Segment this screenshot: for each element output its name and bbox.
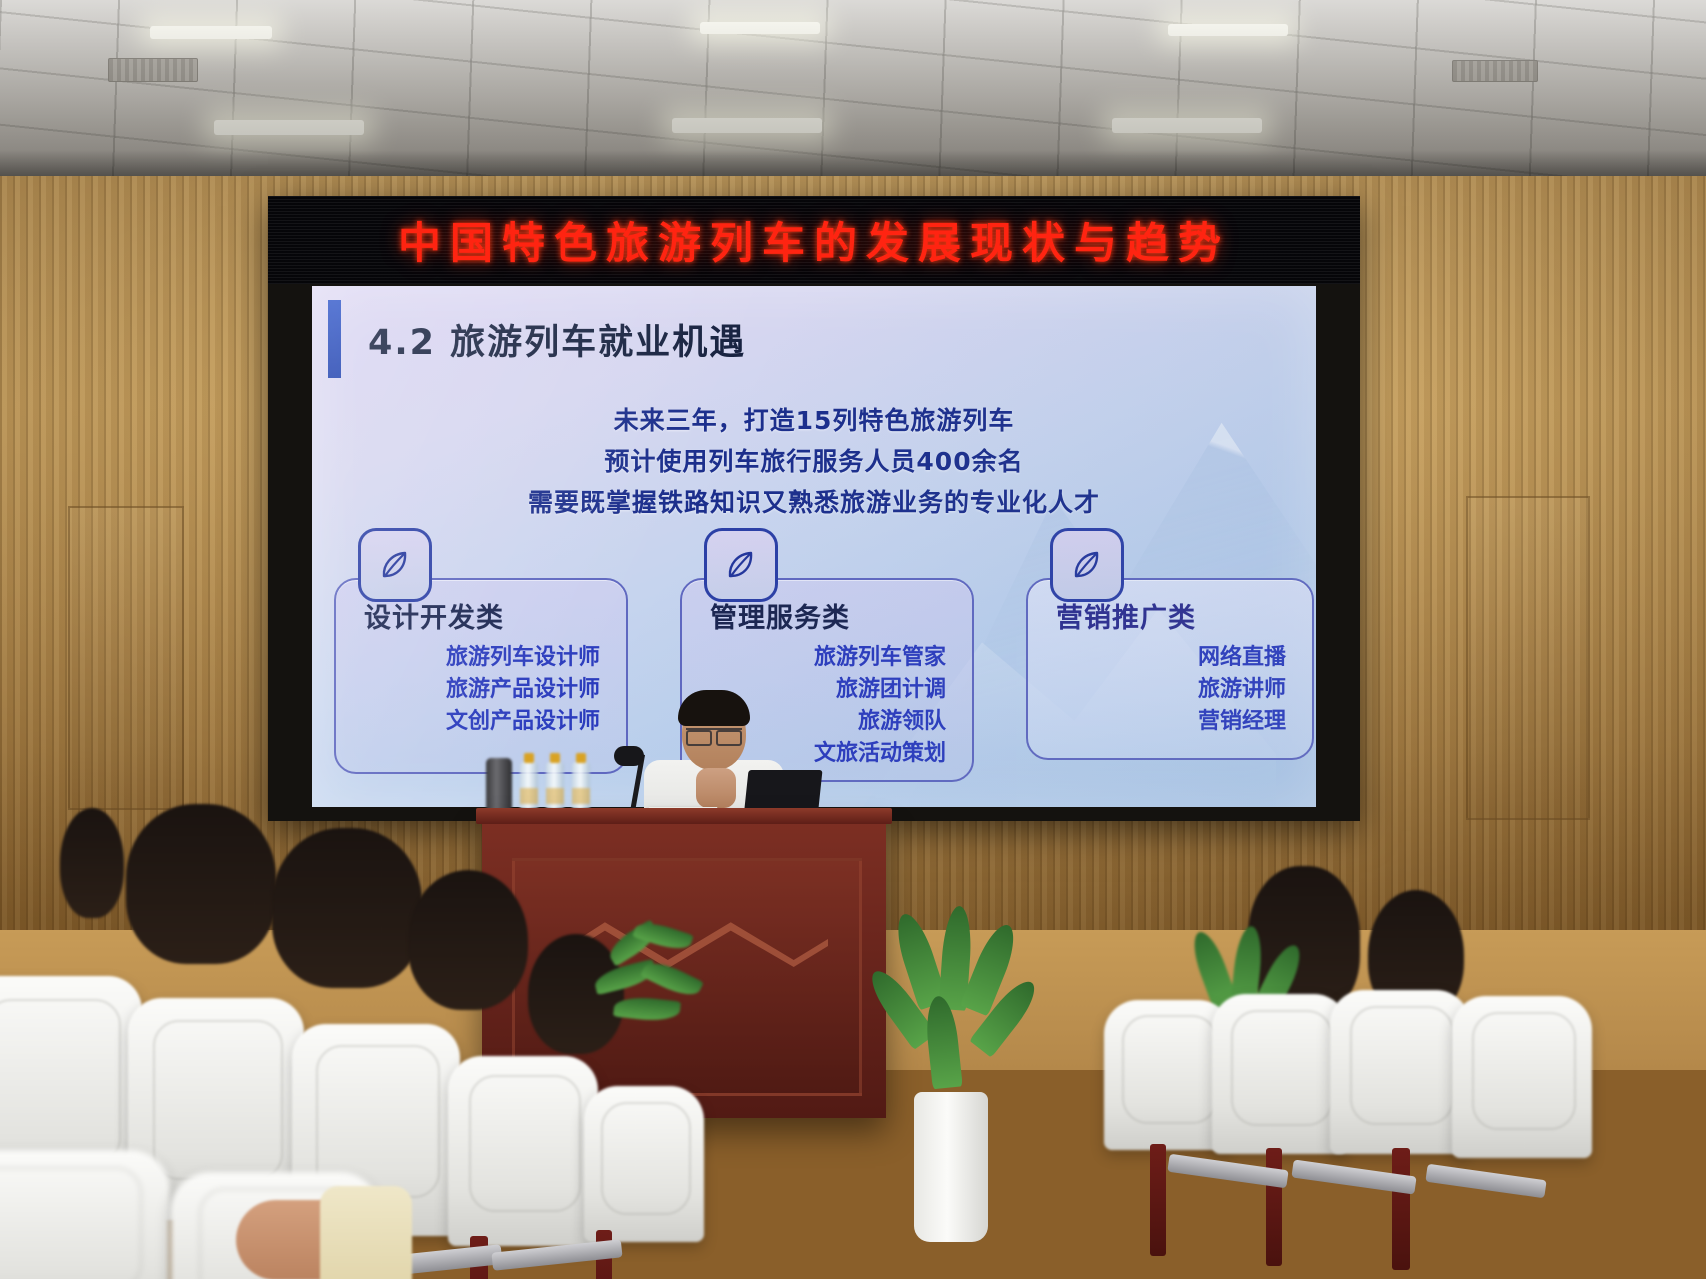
- slide-title: 4.2 旅游列车就业机遇: [368, 314, 746, 365]
- podium-top: [476, 808, 892, 824]
- audience-seat: [1330, 990, 1470, 1154]
- conference-room-scene: 中国特色旅游列车的发展现状与趋势 4.2 旅游列车就业机遇 未来三年，打造15列…: [0, 0, 1706, 1279]
- projection-screen-assembly: 中国特色旅游列车的发展现状与趋势 4.2 旅游列车就业机遇 未来三年，打造15列…: [268, 196, 1360, 821]
- slide-title-accent-bar: [328, 300, 341, 378]
- audience-area: [0, 900, 1706, 1279]
- list-item: 旅游列车管家: [814, 642, 946, 674]
- leaf-icon: [358, 528, 432, 602]
- slide-lead-line-1: 未来三年，打造15列特色旅游列车: [312, 401, 1316, 437]
- audience-seat: [448, 1056, 598, 1246]
- presentation-slide: 4.2 旅游列车就业机遇 未来三年，打造15列特色旅游列车 预计使用列车旅行服务…: [312, 286, 1316, 807]
- attendee-head: [126, 804, 276, 964]
- list-item: 网络直播: [1198, 642, 1286, 674]
- plant-leaf: [613, 995, 681, 1024]
- led-banner-text: 中国特色旅游列车的发展现状与趋势: [398, 209, 1230, 271]
- slide-lead-line-2: 预计使用列车旅行服务人员400余名: [312, 442, 1316, 478]
- category-card-heading: 管理服务类: [710, 596, 850, 635]
- audience-seat: [0, 1150, 170, 1279]
- seat-leg: [1392, 1148, 1410, 1270]
- attendee-head: [272, 828, 422, 988]
- plant-leaf: [640, 956, 704, 1002]
- seat-leg: [1266, 1148, 1282, 1266]
- list-item: 旅游团计调: [814, 674, 946, 706]
- list-item: 文创产品设计师: [446, 706, 600, 738]
- list-item: 旅游领队: [814, 706, 946, 738]
- category-card-items: 旅游列车管家 旅游团计调 旅游领队 文旅活动策划: [814, 642, 946, 770]
- audience-seat: [584, 1086, 704, 1242]
- seat-leg: [1150, 1144, 1166, 1256]
- category-card-heading: 营销推广类: [1056, 596, 1196, 635]
- seat-armrest: [1425, 1164, 1546, 1199]
- presenter-hands: [696, 768, 736, 808]
- category-card-design: 设计开发类 旅游列车设计师 旅游产品设计师 文创产品设计师: [334, 578, 628, 774]
- leaf-icon: [704, 528, 778, 602]
- ceiling: [0, 0, 1706, 182]
- category-card-items: 旅游列车设计师 旅游产品设计师 文创产品设计师: [446, 642, 600, 738]
- list-item: 营销经理: [1198, 706, 1286, 738]
- audience-seat: [1452, 996, 1592, 1158]
- category-card-heading: 设计开发类: [364, 596, 504, 635]
- microphone-head: [614, 746, 644, 766]
- led-banner: 中国特色旅游列车的发展现状与趋势: [268, 196, 1360, 284]
- list-item: 文旅活动策划: [814, 738, 946, 770]
- category-card-marketing: 营销推广类 网络直播 旅游讲师 营销经理: [1026, 578, 1314, 760]
- list-item: 旅游列车设计师: [446, 642, 600, 674]
- attendee-bag: [320, 1186, 412, 1279]
- attendee-head: [60, 808, 124, 918]
- attendee-head: [408, 870, 528, 1010]
- list-item: 旅游产品设计师: [446, 674, 600, 706]
- potted-plant: [880, 912, 1040, 1242]
- slide-lead-line-3: 需要既掌握铁路知识又熟悉旅游业务的专业化人才: [312, 483, 1316, 519]
- list-item: 旅游讲师: [1198, 674, 1286, 706]
- leaf-icon: [1050, 528, 1124, 602]
- plant-pot: [914, 1092, 988, 1242]
- audience-seat: [1212, 994, 1348, 1154]
- presenter-hair: [678, 690, 750, 726]
- category-card-items: 网络直播 旅游讲师 营销经理: [1198, 642, 1286, 738]
- presenter-glasses: [686, 728, 742, 742]
